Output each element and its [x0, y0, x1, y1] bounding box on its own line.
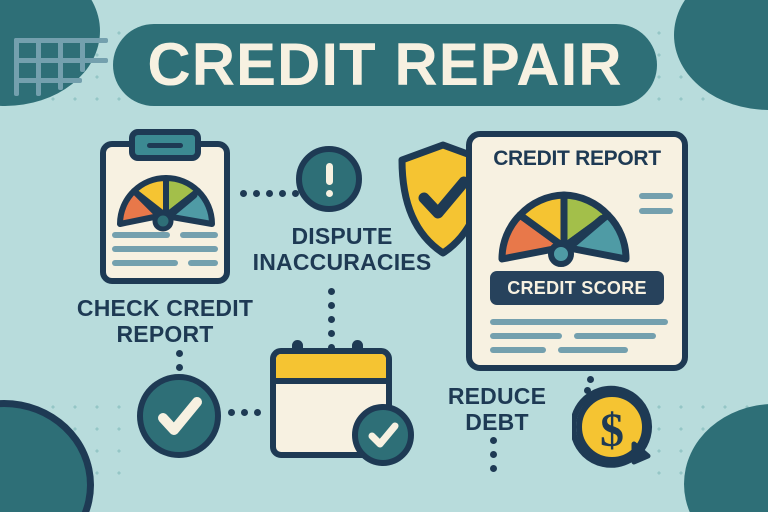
clipboard-text-lines [112, 232, 218, 274]
calendar-header [276, 354, 386, 384]
clipboard-gauge-icon [112, 162, 220, 234]
credit-report-gauge-icon [494, 179, 638, 269]
label-reduce-line1: REDUCE [432, 384, 562, 410]
credit-report-card: CREDIT REPORT CREDIT SCORE [466, 131, 688, 371]
infographic-canvas: CREDIT REPAIR CHECK CREDIT REPORT [0, 0, 768, 512]
title-banner: CREDIT REPAIR [113, 24, 657, 106]
decor-blob-bottom-left [0, 400, 94, 512]
dot-grid-bottom-left [16, 392, 126, 492]
checkmark-icon [143, 380, 215, 452]
credit-report-text-lines [490, 319, 668, 361]
label-reduce-debt: REDUCE DEBT [432, 384, 562, 436]
label-reduce-line2: DEBT [432, 410, 562, 436]
dollar-coin-arrow-icon: $ [572, 382, 658, 474]
credit-score-label: CREDIT SCORE [507, 278, 647, 299]
label-check-line1: CHECK CREDIT [60, 296, 270, 322]
credit-report-corner-dashes [639, 193, 673, 223]
decor-blob-top-right [674, 0, 768, 110]
calendar-grid [14, 38, 108, 100]
dot-grid-top-right [644, 18, 754, 118]
decor-blob-bottom-right [684, 404, 768, 512]
label-check-line2: REPORT [60, 322, 270, 348]
label-check-credit-report: CHECK CREDIT REPORT [60, 296, 270, 348]
credit-report-title: CREDIT REPORT [472, 147, 682, 171]
check-circle-badge [137, 374, 221, 458]
checkmark-icon [358, 410, 408, 460]
clipboard-clip [129, 129, 201, 161]
dot-grid-bottom-right [644, 392, 754, 492]
credit-score-banner: CREDIT SCORE [490, 271, 664, 305]
exclamation-circle-icon [296, 146, 362, 212]
dollar-symbol: $ [600, 404, 624, 457]
page-title: CREDIT REPAIR [147, 35, 622, 95]
calendar-check-badge [352, 404, 414, 466]
